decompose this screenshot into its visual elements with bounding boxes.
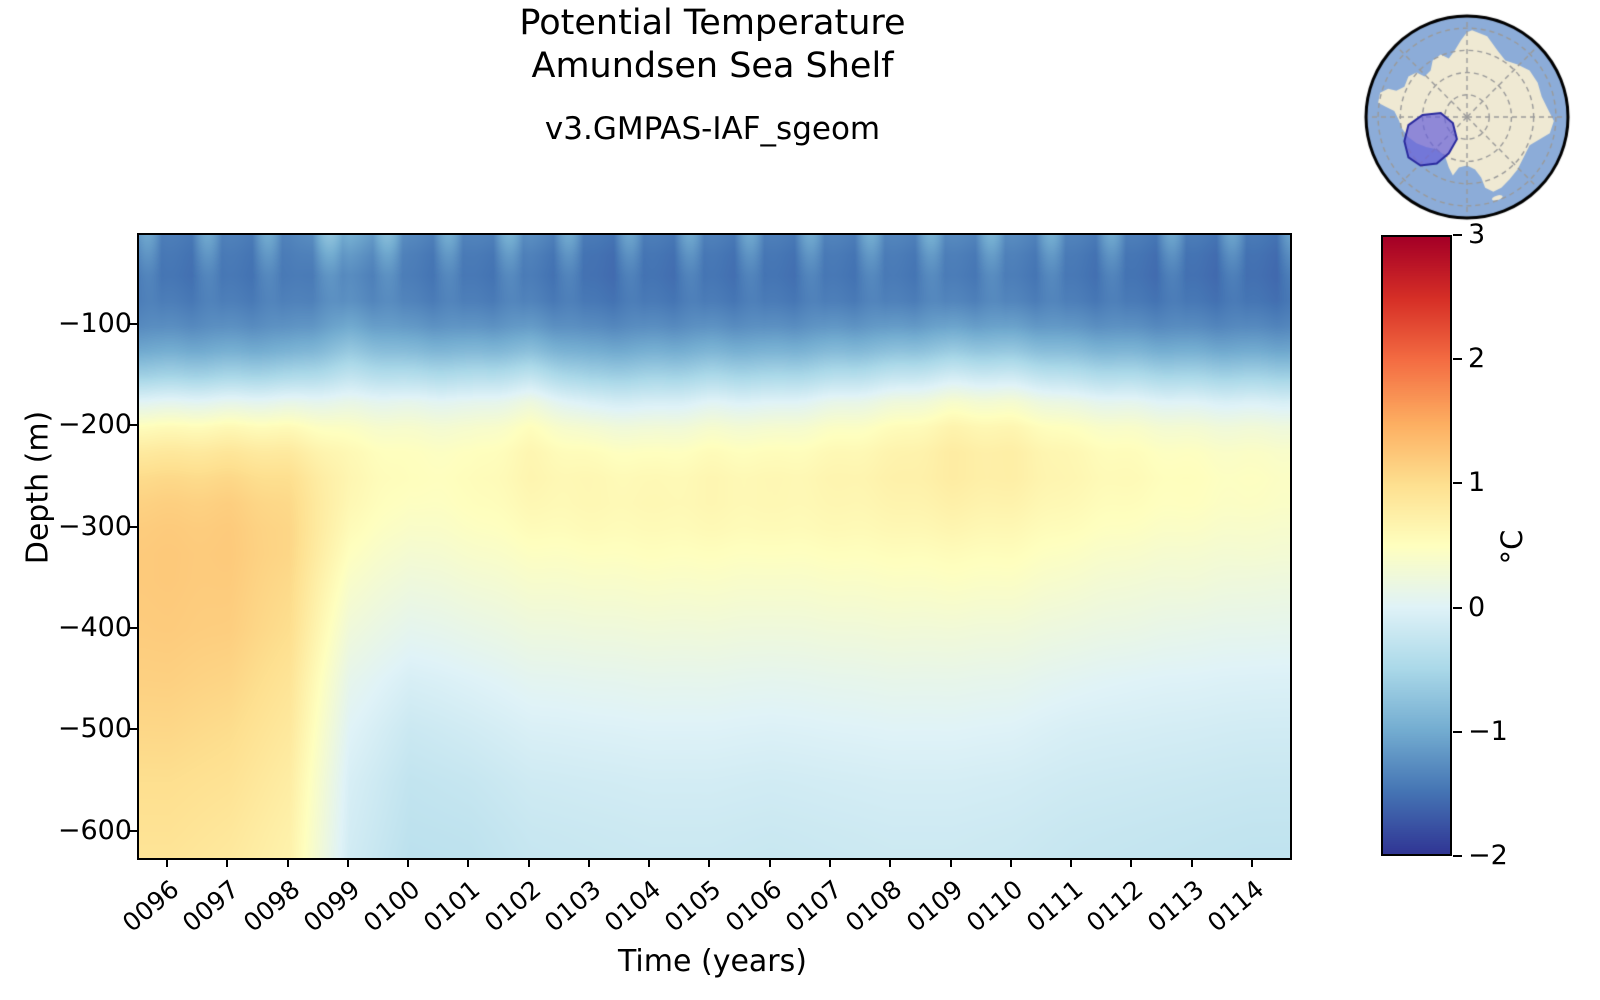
colorbar-tick-mark xyxy=(1453,482,1462,484)
title-block: Potential Temperature Amundsen Sea Shelf… xyxy=(137,2,1288,148)
colorbar-gradient xyxy=(1381,235,1452,856)
x-tick-label: 0100 xyxy=(358,876,425,938)
y-tick-label: −400 xyxy=(58,614,132,641)
page-title: Potential Temperature Amundsen Sea Shelf xyxy=(137,2,1288,88)
antarctica-map-canvas xyxy=(1356,13,1578,221)
colorbar-tick-mark xyxy=(1453,607,1462,609)
colorbar-tick-mark xyxy=(1453,731,1462,733)
x-tick-label: 0105 xyxy=(659,876,726,938)
x-tick-mark xyxy=(226,858,228,867)
x-tick-label: 0113 xyxy=(1141,876,1208,938)
x-tick-mark xyxy=(1251,858,1253,867)
x-tick-label: 0097 xyxy=(177,876,244,938)
x-tick-label: 0101 xyxy=(418,876,485,938)
x-tick-mark xyxy=(889,858,891,867)
colorbar-tick-mark xyxy=(1453,234,1462,236)
y-tick-label: −100 xyxy=(58,310,132,337)
colorbar-tick-label: −1 xyxy=(1468,718,1508,745)
x-tick-mark xyxy=(467,858,469,867)
x-tick-label: 0106 xyxy=(719,876,786,938)
x-tick-label: 0104 xyxy=(599,876,666,938)
colorbar-tick-mark xyxy=(1453,358,1462,360)
figure-subtitle: v3.GMPAS-IAF_sgeom xyxy=(137,110,1288,148)
x-tick-mark xyxy=(648,858,650,867)
x-tick-mark xyxy=(1191,858,1193,867)
x-tick-mark xyxy=(528,858,530,867)
x-tick-mark xyxy=(1070,858,1072,867)
potential-temperature-hovmoller-canvas xyxy=(139,235,1290,858)
x-tick-mark xyxy=(166,858,168,867)
x-tick-label: 0107 xyxy=(779,876,846,938)
antarctica-locator-map xyxy=(1356,13,1578,221)
x-tick-mark xyxy=(769,858,771,867)
colorbar-tick-label: −2 xyxy=(1468,842,1508,869)
colorbar-tick-label: 1 xyxy=(1468,469,1485,496)
x-tick-mark xyxy=(829,858,831,867)
x-tick-mark xyxy=(588,858,590,867)
x-tick-label: 0110 xyxy=(960,876,1027,938)
y-tick-label: −300 xyxy=(58,513,132,540)
x-tick-mark xyxy=(1130,858,1132,867)
y-tick-label: −500 xyxy=(58,715,132,742)
x-tick-mark xyxy=(1010,858,1012,867)
x-tick-mark xyxy=(950,858,952,867)
y-tick-label: −200 xyxy=(58,411,132,438)
x-tick-label: 0112 xyxy=(1081,876,1148,938)
x-axis-label: Time (years) xyxy=(137,944,1288,979)
colorbar-tick-label: 3 xyxy=(1468,221,1485,248)
y-tick-label: −600 xyxy=(58,817,132,844)
heatmap-plot-area xyxy=(137,233,1292,860)
colorbar-tick-label: 0 xyxy=(1468,594,1485,621)
x-tick-mark xyxy=(347,858,349,867)
x-tick-label: 0099 xyxy=(297,876,364,938)
y-axis-label: Depth (m) xyxy=(21,358,56,618)
colorbar-tick-mark xyxy=(1453,855,1462,857)
x-tick-label: 0114 xyxy=(1201,876,1268,938)
x-tick-mark xyxy=(407,858,409,867)
x-tick-label: 0103 xyxy=(538,876,605,938)
x-tick-mark xyxy=(708,858,710,867)
x-tick-label: 0108 xyxy=(840,876,907,938)
x-tick-label: 0102 xyxy=(478,876,545,938)
colorbar xyxy=(1381,235,1452,856)
x-tick-label: 0111 xyxy=(1020,876,1087,938)
colorbar-tick-label: 2 xyxy=(1468,345,1485,372)
x-tick-label: 0096 xyxy=(117,876,184,938)
x-tick-label: 0098 xyxy=(237,876,304,938)
colorbar-unit-label: °C xyxy=(1495,487,1529,607)
x-tick-label: 0109 xyxy=(900,876,967,938)
x-tick-mark xyxy=(287,858,289,867)
